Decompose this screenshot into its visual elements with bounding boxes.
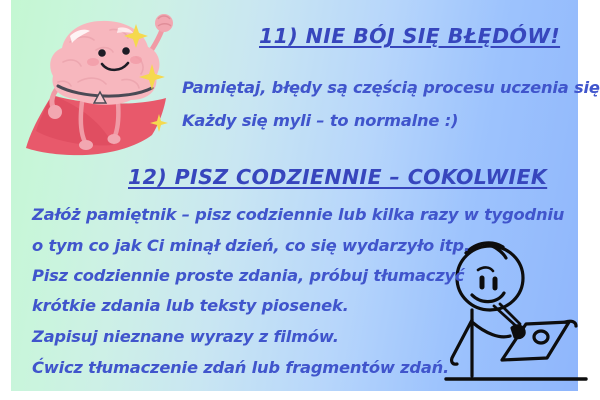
brain-right-eye	[122, 47, 130, 55]
section-12-line-4: krótkie zdania lub teksty piosenek.	[32, 296, 349, 315]
section-12-line-1: Załóż pamiętnik – pisz codziennie lub ki…	[32, 205, 564, 224]
section-12-heading: 12) PISZ CODZIENNIE – COKOLWIEK	[128, 165, 547, 189]
stick-figure-right-arm	[472, 322, 510, 337]
stick-figure-writing-illustration	[440, 238, 590, 390]
section-12-line-5: Zapisuj nieznane wyrazy z filmów.	[32, 327, 339, 346]
superhero-brain-illustration	[18, 2, 203, 167]
brain-right-fist	[155, 14, 173, 32]
brain-right-foot	[108, 134, 121, 144]
brain-left-fist	[48, 105, 62, 119]
section-12-line-6: Ćwicz tłumaczenie zdań lub fragmentów zd…	[32, 358, 449, 377]
section-11-line-1: Pamiętaj, błędy są częścią procesu uczen…	[182, 78, 600, 97]
brain-left-eye	[98, 49, 106, 57]
section-12-line-2: o tym co jak Ci minął dzień, co się wyda…	[32, 236, 470, 255]
brain-left-foot	[79, 140, 93, 150]
section-11-heading: 11) NIE BÓJ SIĘ BŁĘDÓW!	[259, 24, 560, 48]
section-12-line-3: Pisz codziennie proste zdania, próbuj tł…	[32, 266, 464, 285]
stick-figure-left-arm	[452, 320, 472, 364]
section-11-line-2: Każdy się myli – to normalne :)	[182, 111, 458, 130]
brain-left-blush	[87, 58, 99, 66]
slide-canvas: 11) NIE BÓJ SIĘ BŁĘDÓW! Pamiętaj, błędy …	[0, 0, 600, 400]
stick-figure-smile	[472, 293, 504, 302]
paper-detail	[534, 331, 548, 343]
brain-right-blush	[130, 56, 142, 64]
stick-figure-eyebrow	[478, 267, 493, 271]
